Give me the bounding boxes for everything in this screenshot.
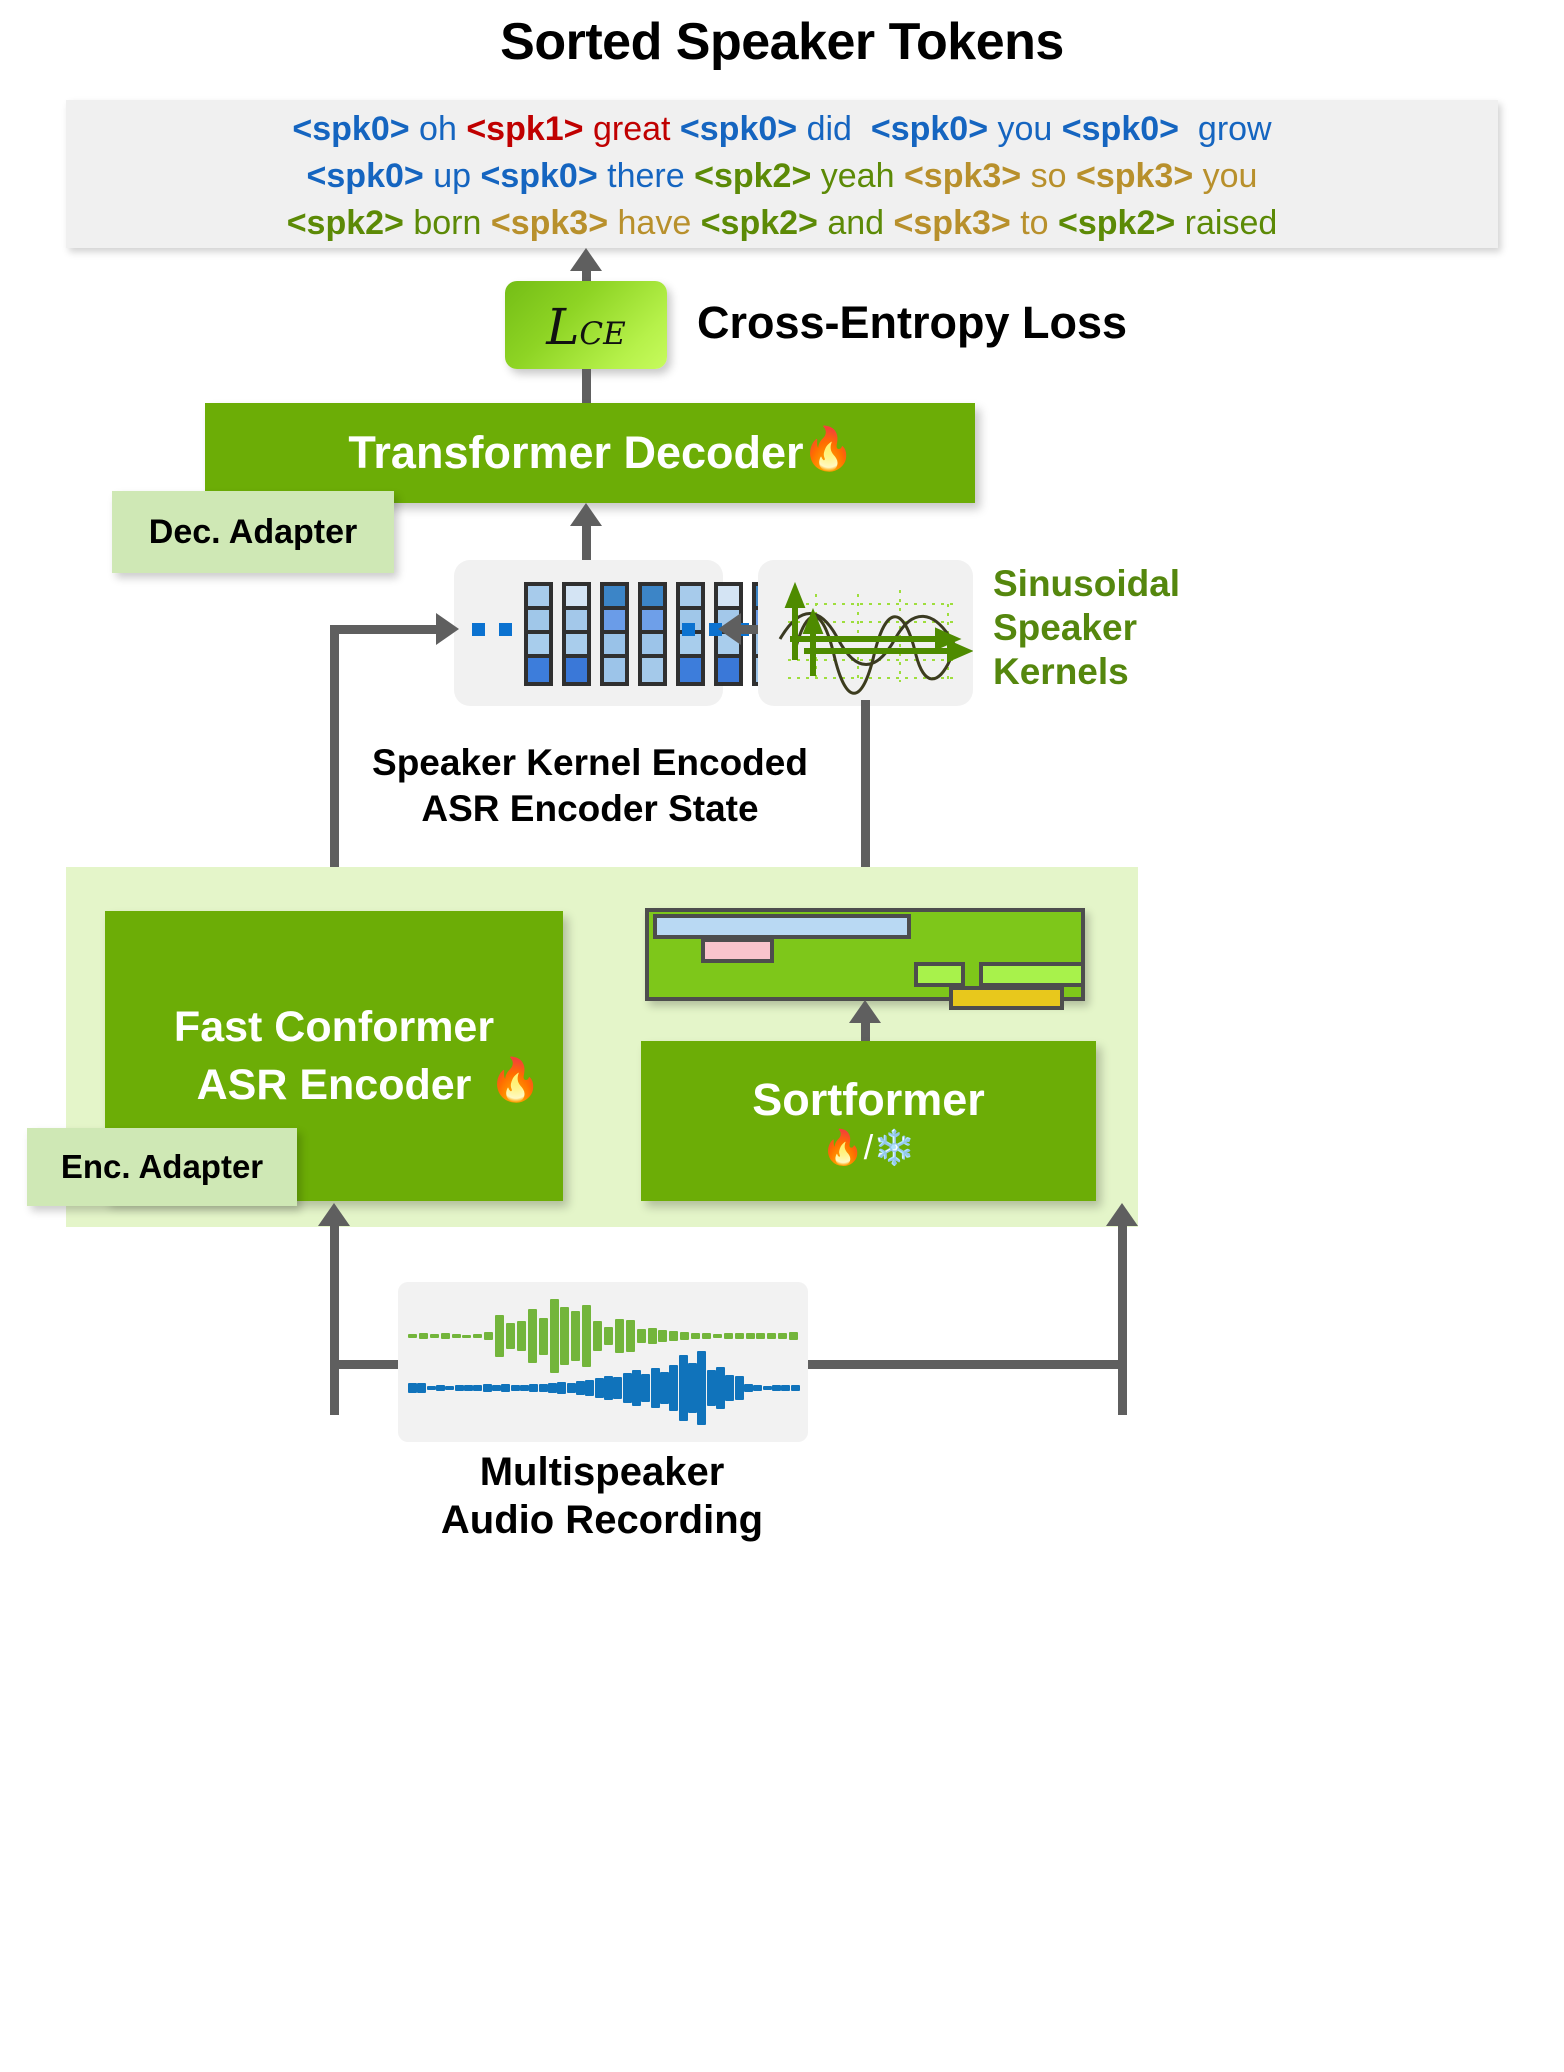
fire-icon: 🔥: [802, 428, 854, 470]
speaker-token: <spk0>: [871, 110, 988, 148]
speaker-token: have: [608, 204, 701, 242]
arrow-conformer-to-state-horizontal: [330, 625, 440, 634]
waveform-bar: [585, 1380, 594, 1397]
arrow-loss-to-tokens-head: [570, 248, 602, 271]
waveform-bar: [637, 1329, 646, 1343]
waveform-bar: [791, 1385, 800, 1391]
speaker-d-segment: [979, 962, 1085, 987]
speaker-token: oh: [410, 110, 467, 148]
transformer-decoder-label: Transformer Decoder: [348, 427, 803, 479]
encoder-state-cell: [604, 658, 625, 682]
speaker-token: <spk2>: [694, 157, 811, 195]
speaker-c-segment: [914, 962, 965, 987]
encoder-state-column: [562, 582, 591, 686]
waveform-bar: [778, 1333, 787, 1338]
speaker-token: <spk0>: [1062, 110, 1179, 148]
waveform-bar: [408, 1334, 417, 1337]
speaker-token: raised: [1175, 204, 1277, 242]
waveform-bar: [697, 1351, 706, 1425]
audio-caption: Multispeaker Audio Recording: [382, 1448, 822, 1544]
speaker-a-segment: [653, 914, 911, 939]
arrow-kernels-to-state-head: [718, 613, 741, 645]
encoder-state-cell: [642, 634, 663, 658]
encoder-state-cell: [566, 634, 587, 658]
speaker-token: <spk2>: [701, 204, 818, 242]
encoder-state-cell: [604, 586, 625, 610]
encoder-state-cell: [604, 634, 625, 658]
waveform-bar: [473, 1334, 482, 1337]
waveform-bar: [641, 1374, 650, 1401]
speaker-token: <spk1>: [466, 110, 583, 148]
waveform-bar: [455, 1385, 464, 1390]
fire-snowflake-icon: 🔥/❄️: [821, 1128, 915, 1168]
speaker-e-segment: [949, 986, 1064, 1010]
arrow-state-to-decoder-head: [570, 503, 602, 526]
diarization-output-strip: [645, 908, 1085, 1001]
encoder-state-cell: [604, 610, 625, 634]
speaker-token: yeah: [811, 157, 904, 195]
waveform-bar: [427, 1386, 436, 1390]
waveform-bar: [445, 1386, 454, 1390]
fast-conformer-label-line2: ASR Encoder: [197, 1056, 472, 1114]
waveform-bar: [501, 1384, 510, 1392]
waveform-bar: [763, 1386, 772, 1390]
cross-entropy-loss-box: LCE: [505, 281, 667, 369]
encoder-state-column: [638, 582, 667, 686]
waveform-bar: [725, 1375, 734, 1400]
waveform-bar: [744, 1384, 753, 1392]
speaker-token: <spk3>: [491, 204, 608, 242]
waveform-bar: [483, 1384, 492, 1392]
waveform-bar: [436, 1385, 445, 1390]
waveform-bar: [506, 1323, 515, 1350]
arrow-sortformer-to-diar-head: [849, 1000, 881, 1023]
waveform-bar: [613, 1377, 622, 1398]
waveform-bar: [669, 1365, 678, 1412]
speaker-token: <spk3>: [894, 204, 1011, 242]
encoder-adapter-box: Enc. Adapter: [27, 1128, 297, 1206]
arrow-state-to-decoder-shaft: [582, 525, 591, 560]
diagram-canvas: Sorted Speaker Tokens <spk0> oh <spk1> g…: [0, 0, 1564, 2072]
token-line: <spk2> born <spk3> have <spk2> and <spk3…: [287, 200, 1278, 247]
waveform-bar: [419, 1333, 428, 1339]
sorted-speaker-tokens-panel: <spk0> oh <spk1> great <spk0> did <spk0>…: [66, 100, 1498, 248]
speaker-token: <spk0>: [307, 157, 424, 195]
waveform-bar: [593, 1321, 602, 1352]
encoder-state-cell: [680, 634, 701, 658]
waveform-bar: [660, 1372, 669, 1404]
waveform-bar: [557, 1382, 566, 1395]
waveform-bar: [511, 1385, 520, 1391]
multispeaker-waveform-panel: [398, 1282, 808, 1442]
fast-conformer-label-line1: Fast Conformer: [174, 998, 494, 1056]
waveform-bar: [462, 1335, 471, 1338]
waveform-bar: [595, 1378, 604, 1397]
waveform-bar: [604, 1327, 613, 1346]
encoder-state-cell: [680, 586, 701, 610]
speaker-token: you: [988, 110, 1062, 148]
waveform-bar: [767, 1333, 776, 1339]
encoder-state-cell: [528, 586, 549, 610]
waveform-bar: [724, 1333, 733, 1339]
speaker-token: <spk2>: [1058, 204, 1175, 242]
token-line: <spk0> oh <spk1> great <spk0> did <spk0>…: [292, 106, 1271, 153]
speaker-token: to: [1011, 204, 1058, 242]
waveform-bar: [679, 1355, 688, 1421]
waveform-bar: [430, 1334, 439, 1337]
speaker-token: did: [797, 110, 871, 148]
waveform-bar: [484, 1332, 493, 1340]
encoder-state-column: [524, 582, 553, 686]
arrow-conformer-to-state-head: [436, 613, 459, 645]
waveform-bar: [648, 1328, 657, 1344]
waveform-bar: [604, 1376, 613, 1399]
arrow-audio-to-conformer-horizontal: [330, 1360, 408, 1369]
cross-entropy-loss-label: Cross-Entropy Loss: [697, 297, 1127, 349]
speaker-b-segment: [701, 938, 774, 963]
waveform-bar: [680, 1332, 689, 1340]
decoder-adapter-box: Dec. Adapter: [112, 491, 394, 573]
waveform-bar: [772, 1385, 781, 1391]
sortformer-box: Sortformer 🔥/❄️: [641, 1041, 1096, 1201]
arrow-decoder-to-loss-shaft: [582, 369, 591, 405]
waveform-bar: [691, 1333, 700, 1339]
encoder-state-cell: [718, 586, 739, 610]
waveform-bar: [441, 1333, 450, 1339]
waveform-bar: [669, 1331, 678, 1341]
waveform-bar: [756, 1333, 765, 1338]
waveform-bar: [452, 1334, 461, 1337]
arrow-audio-to-conformer-up: [330, 1222, 339, 1364]
waveform-bar: [464, 1385, 473, 1391]
speaker-token: great: [584, 110, 680, 148]
speaker-token: <spk3>: [904, 157, 1021, 195]
token-line: <spk0> up <spk0> there <spk2> yeah <spk3…: [307, 153, 1258, 200]
waveform-bar: [520, 1385, 529, 1391]
waveform-bar: [713, 1334, 722, 1338]
speaker-token: there: [598, 157, 694, 195]
waveform-bar: [702, 1333, 711, 1338]
speaker-token: up: [424, 157, 481, 195]
speaker-token: and: [818, 204, 894, 242]
waveform-bar: [473, 1385, 482, 1390]
waveform-bar: [567, 1383, 576, 1393]
speaker-token: grow: [1179, 110, 1272, 148]
waveform-bar: [735, 1333, 744, 1338]
waveform-bar: [707, 1370, 716, 1406]
encoder-state-cell: [566, 658, 587, 682]
waveform-bar: [576, 1381, 585, 1396]
waveform-bar: [632, 1370, 641, 1406]
speaker-token: <spk0>: [292, 110, 409, 148]
speaker-token: <spk3>: [1076, 157, 1193, 195]
waveform-bar: [753, 1385, 762, 1391]
encoder-state-cell: [528, 658, 549, 682]
fire-icon: 🔥: [489, 1056, 541, 1105]
speaker-token: so: [1021, 157, 1076, 195]
speaker-token: <spk0>: [680, 110, 797, 148]
waveform-bar: [746, 1333, 755, 1339]
waveform-speaker-2: [408, 1348, 800, 1428]
waveform-bar: [539, 1384, 548, 1391]
waveform-bar: [781, 1385, 790, 1390]
sinusoidal-speaker-kernels-label: Sinusoidal Speaker Kernels: [993, 562, 1180, 694]
page-title: Sorted Speaker Tokens: [0, 12, 1564, 72]
sinusoidal-speaker-kernels-panel: [758, 560, 973, 706]
waveform-bar: [688, 1363, 697, 1414]
waveform-bar: [651, 1368, 660, 1408]
encoder-state-cell: [528, 634, 549, 658]
waveform-bar: [735, 1376, 744, 1399]
loss-symbol: LCE: [546, 302, 626, 352]
encoder-state-cell: [566, 610, 587, 634]
waveform-bar: [492, 1385, 501, 1391]
encoder-state-cell: [566, 586, 587, 610]
transformer-decoder-box: Transformer Decoder: [205, 403, 975, 503]
encoder-state-cell: [642, 586, 663, 610]
waveform-bar: [517, 1321, 526, 1352]
encoder-state-cell: [642, 610, 663, 634]
waveform-bar: [417, 1383, 426, 1394]
speaker-kernel-encoded-state-panel: [454, 560, 723, 706]
waveform-bar: [716, 1367, 725, 1409]
waveform-bar: [548, 1383, 557, 1394]
encoder-state-cell: [528, 610, 549, 634]
encoder-state-caption: Speaker Kernel Encoded ASR Encoder State: [280, 740, 900, 832]
waveform-bar: [658, 1330, 667, 1342]
speaker-token: born: [404, 204, 491, 242]
waveform-bar: [408, 1383, 417, 1393]
encoder-state-cell: [680, 658, 701, 682]
waveform-bar: [529, 1384, 538, 1392]
speaker-token: <spk0>: [480, 157, 597, 195]
waveform-bar: [789, 1332, 798, 1339]
waveform-bar: [623, 1373, 632, 1403]
encoder-state-cell: [718, 658, 739, 682]
speaker-token: <spk2>: [287, 204, 404, 242]
sinusoid-plot-icon: [758, 560, 973, 706]
speaker-token: you: [1193, 157, 1257, 195]
encoder-state-column: [600, 582, 629, 686]
sortformer-label: Sortformer: [752, 1074, 985, 1126]
arrow-audio-to-sortformer-horizontal: [800, 1360, 1127, 1369]
arrow-audio-to-sortformer-up: [1118, 1222, 1127, 1364]
encoder-state-cell: [642, 658, 663, 682]
